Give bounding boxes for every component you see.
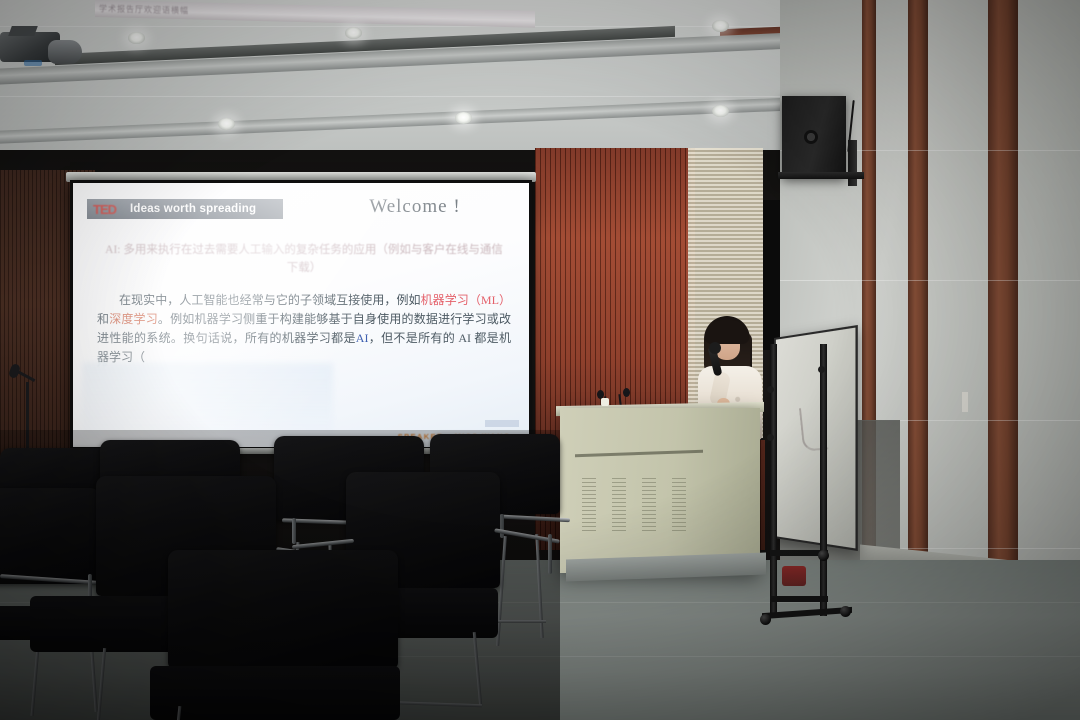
lectern [560, 408, 760, 573]
slide-highlight-ai: AI [356, 331, 369, 345]
projection-screen: TED Ideas worth spreading Welcome ! AI: … [73, 183, 529, 447]
ted-tagline: Ideas worth spreading [130, 203, 256, 215]
ted-logo: TED [93, 202, 116, 217]
slide-faint-tail: ）。 [97, 353, 397, 369]
whiteboard-height-knob[interactable] [767, 386, 774, 393]
wall-switch-plate[interactable] [962, 392, 968, 412]
whiteboard-post-left [770, 344, 777, 616]
caster-wheel [840, 606, 851, 617]
slide-title: Welcome ! [325, 196, 505, 218]
speaker-bracket [778, 172, 864, 179]
wall-speaker [782, 96, 846, 178]
microphone-icon [8, 363, 21, 379]
speaker-driver-icon [804, 130, 818, 144]
speaker-mount-arm [848, 140, 857, 186]
mobile-whiteboard[interactable] [762, 338, 858, 638]
downlight [712, 105, 729, 117]
downlight [345, 27, 362, 39]
whiteboard-post-right [820, 344, 827, 616]
slide-washout [83, 363, 333, 437]
slide-highlight-ml-cn: 机器学习 [421, 293, 469, 307]
caster-wheel [818, 550, 829, 561]
slide-highlight-dl: 深度学习 [109, 312, 158, 326]
venue-banner-text: 学术报告厅欢迎语横幅 [95, 0, 535, 25]
downlight [455, 112, 472, 124]
whiteboard-surface[interactable] [774, 325, 858, 551]
slide-body-part2: 和 [97, 312, 109, 326]
podium-item [601, 398, 609, 406]
slide-lead-text: AI: 多用来执行在过去需要人工输入的复杂任务的应用（例如与客户在线与通信下载） [101, 241, 507, 277]
red-object-behind [782, 566, 806, 586]
gooseneck-mic-head [623, 388, 630, 397]
downlight [128, 32, 145, 44]
downlight [218, 118, 235, 130]
whiteboard-height-knob[interactable] [818, 366, 825, 373]
audience-seating [0, 430, 580, 720]
slide-highlight-ml-abbr: （ML） [469, 293, 511, 307]
conference-room-photo: 学术报告厅欢迎语横幅 [0, 0, 1080, 720]
whiteboard-crossbar [770, 596, 828, 602]
projection-screen-frame: TED Ideas worth spreading Welcome ! AI: … [70, 180, 532, 450]
downlight [712, 20, 729, 32]
whiteboard-height-knob[interactable] [767, 434, 774, 441]
venue-banner: 学术报告厅欢迎语横幅 [95, 0, 535, 28]
ted-brand-bar: TED Ideas worth spreading [87, 199, 283, 219]
slide-corner-tag [485, 420, 519, 427]
ceiling-projector [0, 26, 92, 78]
slide-body-part1: 在现实中，人工智能也经常与它的子领域互接使用，例如 [119, 293, 421, 307]
caster-wheel [760, 614, 771, 625]
